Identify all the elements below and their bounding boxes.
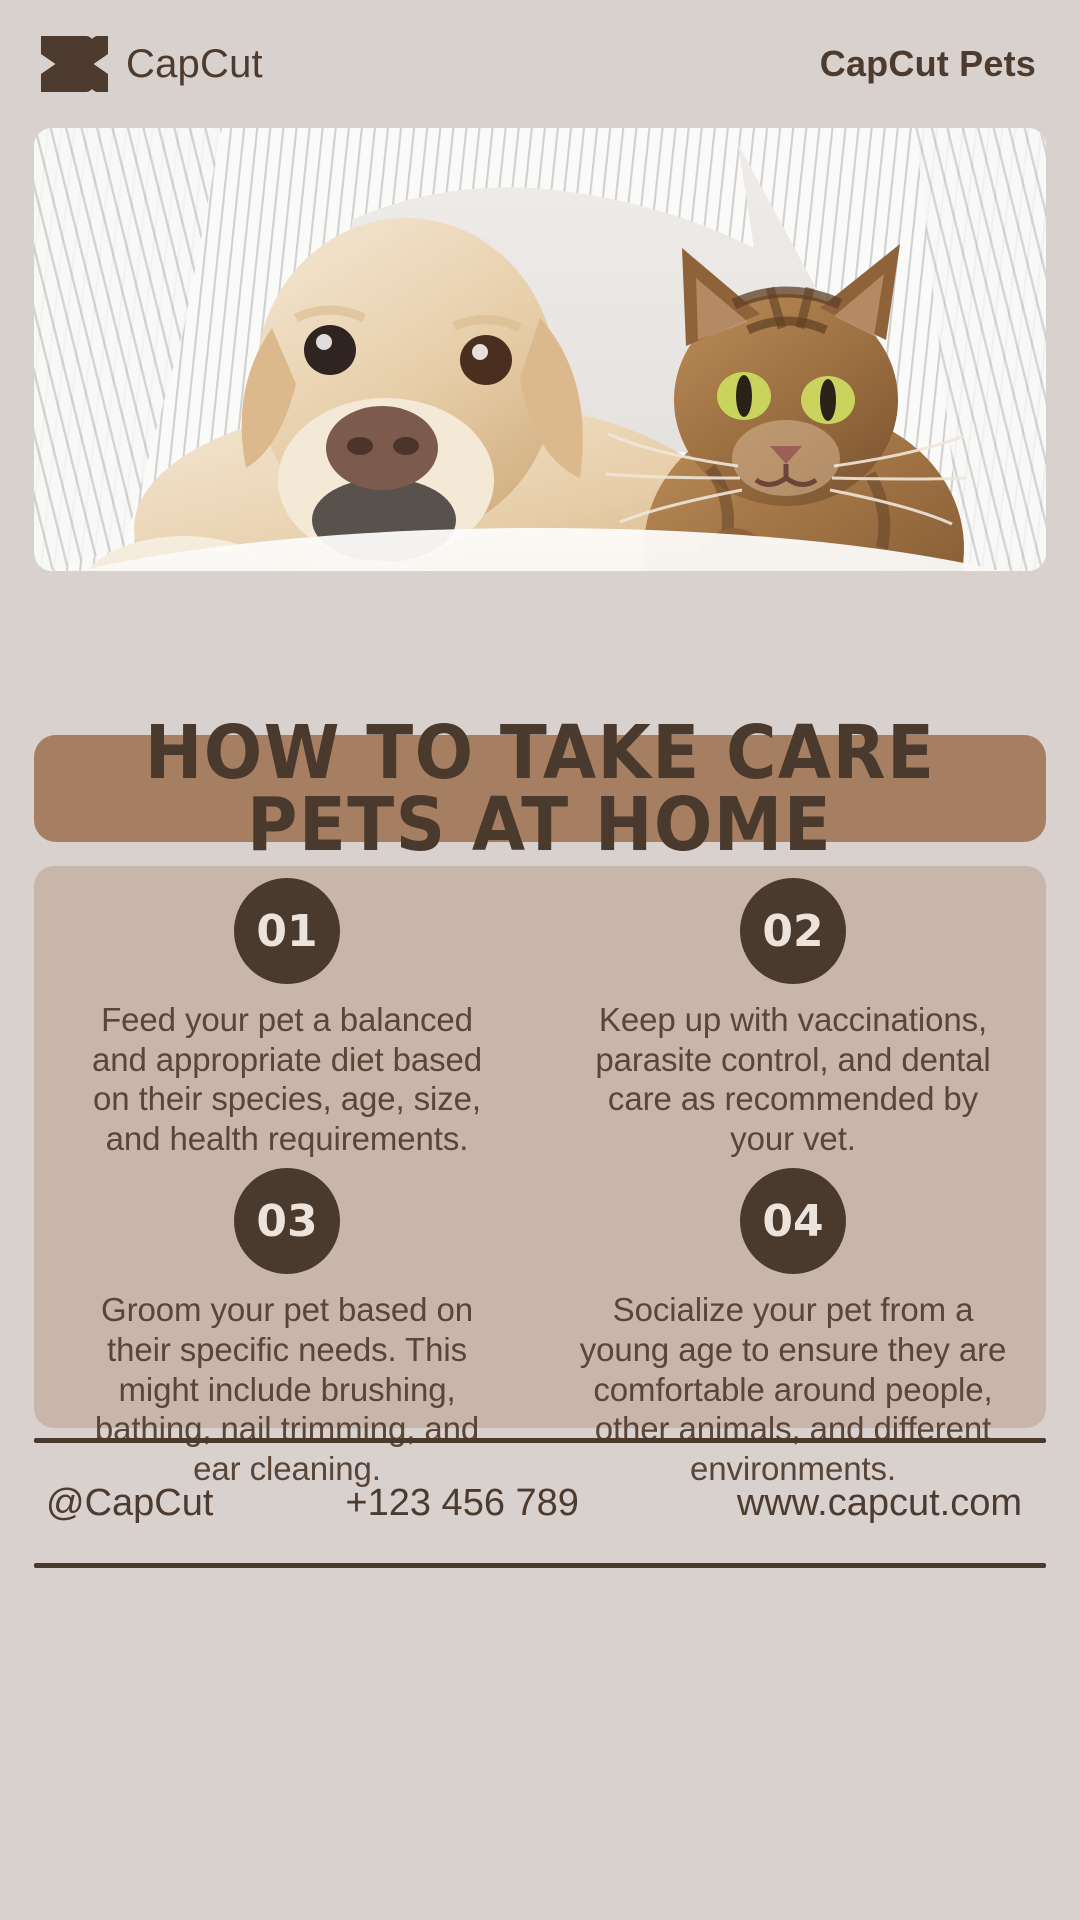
footer-handle[interactable]: @CapCut bbox=[46, 1482, 213, 1525]
infographic-poster: CapCut CapCut Pets bbox=[0, 0, 1080, 1920]
tip-item-02: 02 Keep up with vaccinations, parasite c… bbox=[540, 866, 1046, 1158]
title-line-1: HOW TO TAKE CARE bbox=[145, 718, 936, 790]
tips-panel: 01 Feed your pet a balanced and appropri… bbox=[34, 866, 1046, 1428]
header-right-label: CapCut Pets bbox=[820, 46, 1040, 82]
capcut-logo-icon bbox=[34, 33, 108, 95]
brand-name: CapCut bbox=[126, 44, 263, 84]
tip-badge-01: 01 bbox=[234, 878, 340, 984]
title-line-2: PETS AT HOME bbox=[247, 790, 832, 862]
tip-text-01: Feed your pet a balanced and appropriate… bbox=[72, 1000, 502, 1158]
page-footer: @CapCut +123 456 789 www.capcut.com bbox=[34, 1438, 1046, 1568]
tip-badge-02: 02 bbox=[740, 878, 846, 984]
title-banner: HOW TO TAKE CARE PETS AT HOME bbox=[34, 735, 1046, 842]
tip-item-01: 01 Feed your pet a balanced and appropri… bbox=[34, 866, 540, 1158]
footer-website[interactable]: www.capcut.com bbox=[737, 1482, 1022, 1525]
hero-image bbox=[34, 128, 1046, 571]
footer-contact-row: @CapCut +123 456 789 www.capcut.com bbox=[34, 1443, 1046, 1563]
footer-rule-bottom bbox=[34, 1563, 1046, 1568]
page-header: CapCut CapCut Pets bbox=[0, 0, 1080, 128]
tip-badge-03: 03 bbox=[234, 1168, 340, 1274]
brand-lockup[interactable]: CapCut bbox=[34, 33, 263, 95]
tips-grid: 01 Feed your pet a balanced and appropri… bbox=[34, 866, 1046, 1428]
footer-phone[interactable]: +123 456 789 bbox=[345, 1482, 579, 1525]
tip-badge-04: 04 bbox=[740, 1168, 846, 1274]
tip-text-02: Keep up with vaccinations, parasite cont… bbox=[578, 1000, 1008, 1158]
